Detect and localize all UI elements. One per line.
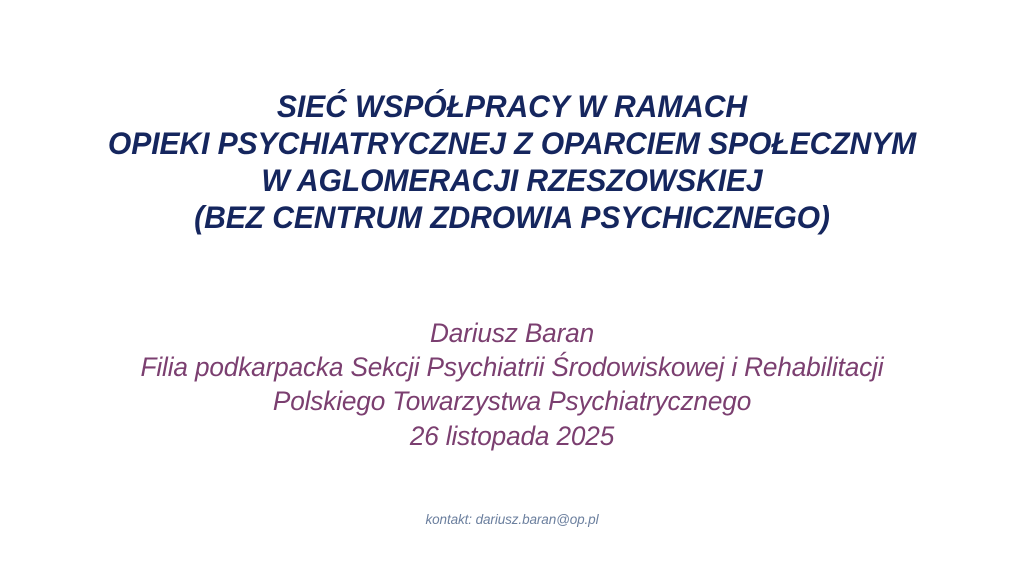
subtitle-affiliation-line-2: Polskiego Towarzystwa Psychiatrycznego [15, 384, 1008, 418]
subtitle-author: Dariusz Baran [15, 316, 1008, 350]
title-line-2: OPIEKI PSYCHIATRYCZNEJ Z OPARCIEM SPOŁEC… [23, 125, 1001, 162]
presentation-slide: SIEĆ WSPÓŁPRACY W RAMACH OPIEKI PSYCHIAT… [0, 0, 1024, 576]
title-line-1: SIEĆ WSPÓŁPRACY W RAMACH [23, 88, 1001, 125]
subtitle-affiliation-line-1: Filia podkarpacka Sekcji Psychiatrii Śro… [15, 350, 1008, 384]
slide-subtitle: Dariusz Baran Filia podkarpacka Sekcji P… [0, 316, 1024, 453]
slide-title: SIEĆ WSPÓŁPRACY W RAMACH OPIEKI PSYCHIAT… [0, 88, 1024, 236]
title-line-3: W AGLOMERACJI RZESZOWSKIEJ [23, 162, 1001, 199]
subtitle-date: 26 listopada 2025 [15, 419, 1008, 453]
contact-email-text: kontakt: dariusz.baran@op.pl [425, 511, 598, 528]
contact-info: kontakt: dariusz.baran@op.pl [0, 511, 1024, 529]
title-line-4: (BEZ CENTRUM ZDROWIA PSYCHICZNEGO) [23, 199, 1001, 236]
